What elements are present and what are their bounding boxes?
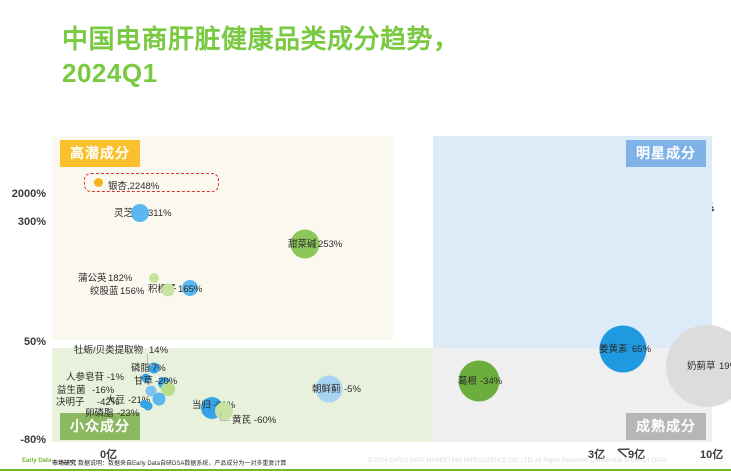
footer-copyright: © 2024 EARLY DATA MARKETING INTELLIGENCE… [368,458,667,464]
bubble-label-astragalus: 黄芪 [232,415,251,426]
x-axis-tick-10: 10亿 [700,446,723,462]
bubble-label-oyster-extract: 牡蛎/贝类提取物 [74,345,143,356]
bubble-value-lecithin: -23% [117,408,139,419]
bubble-label-artichoke: 朝鲜蓟 [312,384,341,395]
bubble-lingzhi[interactable] [131,204,149,222]
bubble-label-ginsenoside: 人参皂苷 [66,372,104,383]
chart-page: 中国电商肝脏健康品类成分趋势， 2024Q1 2000% ≶ 300% 50% … [0,0,731,473]
bubble-value-lingzhi: 311% [148,208,172,219]
bubble-label-angelica: 当归 [192,400,211,411]
bubble-label-cassia-seed: 决明子 [56,397,85,408]
bubble-label-betaine: 甜菜碱 [288,239,317,250]
bubble-label-kudzu: 葛根 [458,376,477,387]
y-axis-tick-2000: 2000% [0,188,46,200]
bubble-cassia-seed[interactable] [140,400,148,408]
footer-note: 数据说明：数据来自Early Data自研DSA数据系统，产品成分为一对多重复计… [78,458,286,467]
bubble-label-probiotics: 益生菌 [57,385,86,396]
bubble-value-ginsenoside: -1% [107,372,124,383]
bubble-label-lecithin: 卵磷脂 [85,408,114,419]
bubble-value-dandelion: 182% [108,273,132,284]
y-axis-tick-50: 50% [0,336,46,348]
bubble-label-milk-thistle: 奶蓟草 [687,361,716,372]
bubble-label-dandelion: 蒲公英 [78,273,107,284]
bubble-label-curcumin: 姜黄素 [599,344,628,355]
bubble-value-astragalus: -60% [254,415,276,426]
bubble-value-hovenia: 165% [178,284,202,295]
footer-brand-suffix: 市场研究 [52,458,76,467]
bubble-value-curcumin: 65% [632,344,651,355]
page-title: 中国电商肝脏健康品类成分趋势， 2024Q1 [62,22,622,90]
y-axis-tick-neg80: -80% [0,434,46,446]
bubble-value-licorice: -20% [155,376,177,387]
bubble-value-gynostemma: 156% [120,286,144,297]
bubble-label-lingzhi: 灵芝 [114,208,133,219]
bubble-ginkgo[interactable] [94,178,103,187]
badge-high-potential: 高潜成分 [60,140,140,167]
bubble-value-phospholipid: 7% [152,363,166,374]
bubble-value-oyster-extract: 14% [149,345,168,356]
bubble-gynostemma[interactable] [162,284,175,297]
bubble-dandelion[interactable] [149,273,159,283]
footer-rule [0,469,731,471]
badge-mature: 成熟成分 [626,413,706,440]
badge-star: 明星成分 [626,140,706,167]
plot-area: 高潜成分 明星成分 小众成分 成熟成分 灵芝 311% 甜菜碱 253% 蒲公英… [52,136,712,442]
bubble-value-milk-thistle: 19% [719,361,731,372]
bubble-value-kudzu: -34% [480,376,502,387]
footer-brand: Early Data [22,458,51,464]
y-axis-tick-300: 300% [0,216,46,228]
bubble-label-gynostemma: 绞股蓝 [90,286,119,297]
bubble-label-ginkgo: 银杏,2248% [108,178,159,192]
bubble-label-phospholipid: 磷脂 [131,363,150,374]
bubble-soybean[interactable] [153,393,166,406]
leader-line-astragalus [220,413,230,421]
quadrant-niche-bg-filler [393,348,433,442]
bubble-label-licorice: 甘草 [134,376,153,387]
bubble-value-betaine: 253% [318,239,342,250]
bubble-value-artichoke: -5% [344,384,361,395]
bubble-value-cassia-seed: -42% [97,397,119,408]
